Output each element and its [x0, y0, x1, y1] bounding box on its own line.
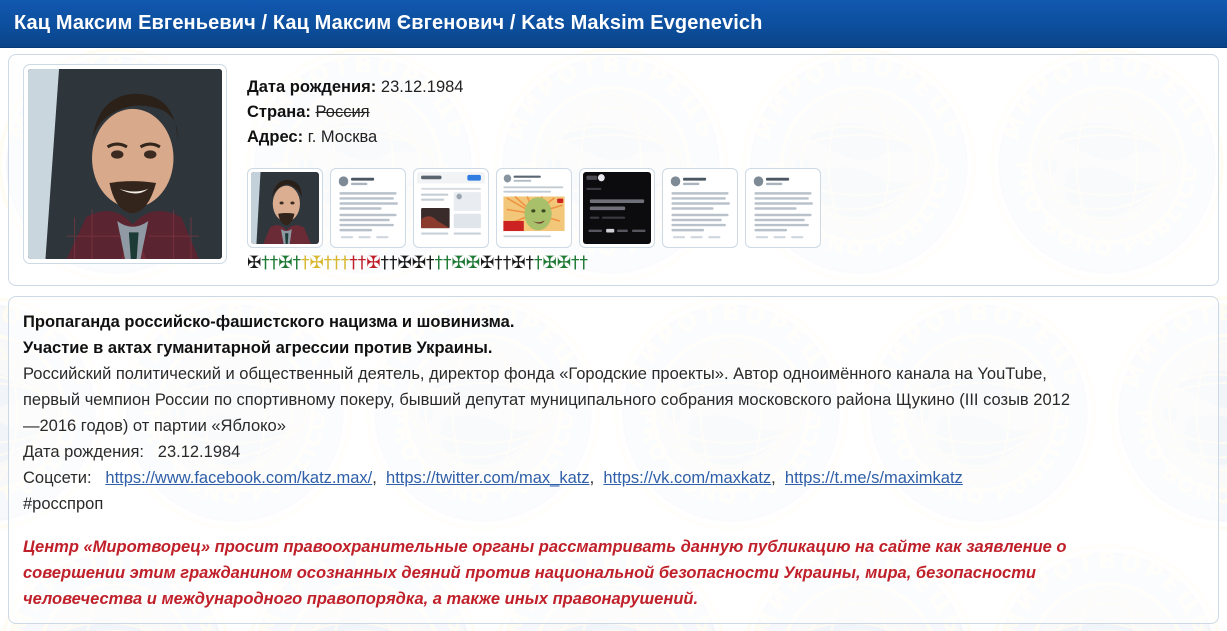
cross-icon: †	[534, 254, 543, 272]
cross-icon: †	[580, 254, 589, 272]
thumbnail-gallery	[247, 168, 821, 248]
cross-icon: †	[443, 254, 452, 272]
cross-icon: †	[261, 254, 270, 272]
biography-text: Российский политический и общественный д…	[23, 361, 1203, 439]
legal-notice-line: Центр «Миротворец» просит правоохранител…	[23, 534, 1203, 560]
thumbnail-image	[417, 172, 485, 244]
social-links-line: Соцсети: https://www.facebook.com/katz.m…	[23, 465, 1203, 491]
cross-icon: ✠	[398, 254, 412, 272]
cross-icon: ✠	[557, 254, 571, 272]
cross-icon: ✠	[247, 254, 261, 272]
profile-info-block: Дата рождения: 23.12.1984 Страна: Россия…	[247, 75, 463, 150]
cross-icon: †	[293, 254, 302, 272]
cross-icon: ✠	[412, 254, 426, 272]
thumb-video-post[interactable]	[496, 168, 572, 248]
hashtag: #росспроп	[23, 491, 1203, 517]
page-title: Кац Максим Евгеньевич / Кац Максим Євген…	[0, 12, 762, 35]
cross-icon: ✠	[480, 254, 494, 272]
birthdate-value: 23.12.1984	[158, 443, 241, 461]
social-label: Соцсети:	[23, 469, 92, 487]
thumb-social-post-3[interactable]	[745, 168, 821, 248]
thumb-dark-post[interactable]	[579, 168, 655, 248]
page-header-bar: Кац Максим Евгеньевич / Кац Максим Євген…	[0, 0, 1227, 48]
cross-icon: ✠	[452, 254, 466, 272]
cross-icon: †	[341, 254, 350, 272]
thumb-social-post-1[interactable]	[330, 168, 406, 248]
social-link-telegram[interactable]: https://t.me/s/maximkatz	[785, 469, 963, 487]
field-label-country: Страна:	[247, 103, 311, 121]
thumbnail-image	[666, 172, 734, 244]
profile-field-row: Страна: Россия	[247, 100, 463, 125]
field-label-birthdate: Дата рождения:	[247, 78, 376, 96]
biography-line: Российский политический и общественный д…	[23, 361, 1203, 387]
cross-icon: †	[426, 254, 435, 272]
profile-field-row: Дата рождения: 23.12.1984	[247, 75, 463, 100]
thumb-webpage[interactable]	[413, 168, 489, 248]
cross-icon: †	[349, 254, 358, 272]
cross-icon: †	[389, 254, 398, 272]
thumbnail-image	[251, 172, 319, 244]
portrait-photo[interactable]	[28, 69, 222, 259]
birthdate-label: Дата рождения:	[23, 443, 144, 461]
cross-icon: †	[301, 254, 310, 272]
cross-icon: ✠	[511, 254, 525, 272]
cross-icon: ✠	[543, 254, 557, 272]
cross-icon: †	[358, 254, 367, 272]
biography-line: —2016 годов) от партии «Яблоко»	[23, 413, 1203, 439]
cross-icon: †	[324, 254, 333, 272]
social-link-twitter[interactable]: https://twitter.com/max_katz	[386, 469, 590, 487]
thumbnail-image	[749, 172, 817, 244]
cross-icon: †	[332, 254, 341, 272]
cross-icon: ✠	[310, 254, 324, 272]
accusation-line-1: Пропаганда российско-фашистского нацизма…	[23, 309, 1203, 335]
birthdate-line: Дата рождения: 23.12.1984	[23, 439, 1203, 465]
cross-icon: †	[381, 254, 390, 272]
dossier-panel: Пропаганда российско-фашистского нацизма…	[8, 296, 1219, 624]
cross-icon: ✠	[278, 254, 292, 272]
profile-panel: Дата рождения: 23.12.1984 Страна: Россия…	[8, 54, 1219, 286]
field-value-country: Россия	[315, 103, 369, 121]
field-label-address: Адрес:	[247, 128, 303, 146]
thumb-social-post-2[interactable]	[662, 168, 738, 248]
cross-icon: †	[435, 254, 444, 272]
cross-icon: †	[494, 254, 503, 272]
thumbnail-image	[500, 172, 568, 244]
social-link-facebook[interactable]: https://www.facebook.com/katz.max/	[105, 469, 372, 487]
cross-icon: †	[503, 254, 512, 272]
legal-notice-line: совершении этим гражданином осознанных д…	[23, 560, 1203, 586]
cross-icon: ✠	[466, 254, 480, 272]
page-root: МИРОТВОРЕЦЬPRO BONO PUBLICOМИРОТВОРЕЦЬPR…	[0, 0, 1227, 631]
portrait-photo-card[interactable]	[23, 64, 227, 264]
field-value-birthdate: 23.12.1984	[381, 78, 464, 96]
social-link-vk[interactable]: https://vk.com/maxkatz	[603, 469, 771, 487]
cross-icon: ✠	[366, 254, 380, 272]
thumbnail-image	[334, 172, 402, 244]
thumb-portrait[interactable]	[247, 168, 323, 248]
thumbnail-image	[583, 172, 651, 244]
cross-icon: †	[270, 254, 279, 272]
biography-line: первый чемпион России по спортивному пок…	[23, 387, 1203, 413]
cross-icon: †	[526, 254, 535, 272]
accusation-line-2: Участие в актах гуманитарной агрессии пр…	[23, 335, 1203, 361]
field-value-address: г. Москва	[308, 128, 378, 146]
legal-notice-line: человечества и международного правопоряд…	[23, 586, 1203, 612]
dossier-body: Пропаганда российско-фашистского нацизма…	[23, 309, 1203, 612]
cross-symbols-row: ✠††✠††✠†††††✠††✠✠†††✠✠✠††✠††✠✠††	[247, 254, 588, 272]
cross-icon: †	[571, 254, 580, 272]
profile-field-row: Адрес: г. Москва	[247, 125, 463, 150]
legal-notice: Центр «Миротворец» просит правоохранител…	[23, 534, 1203, 612]
